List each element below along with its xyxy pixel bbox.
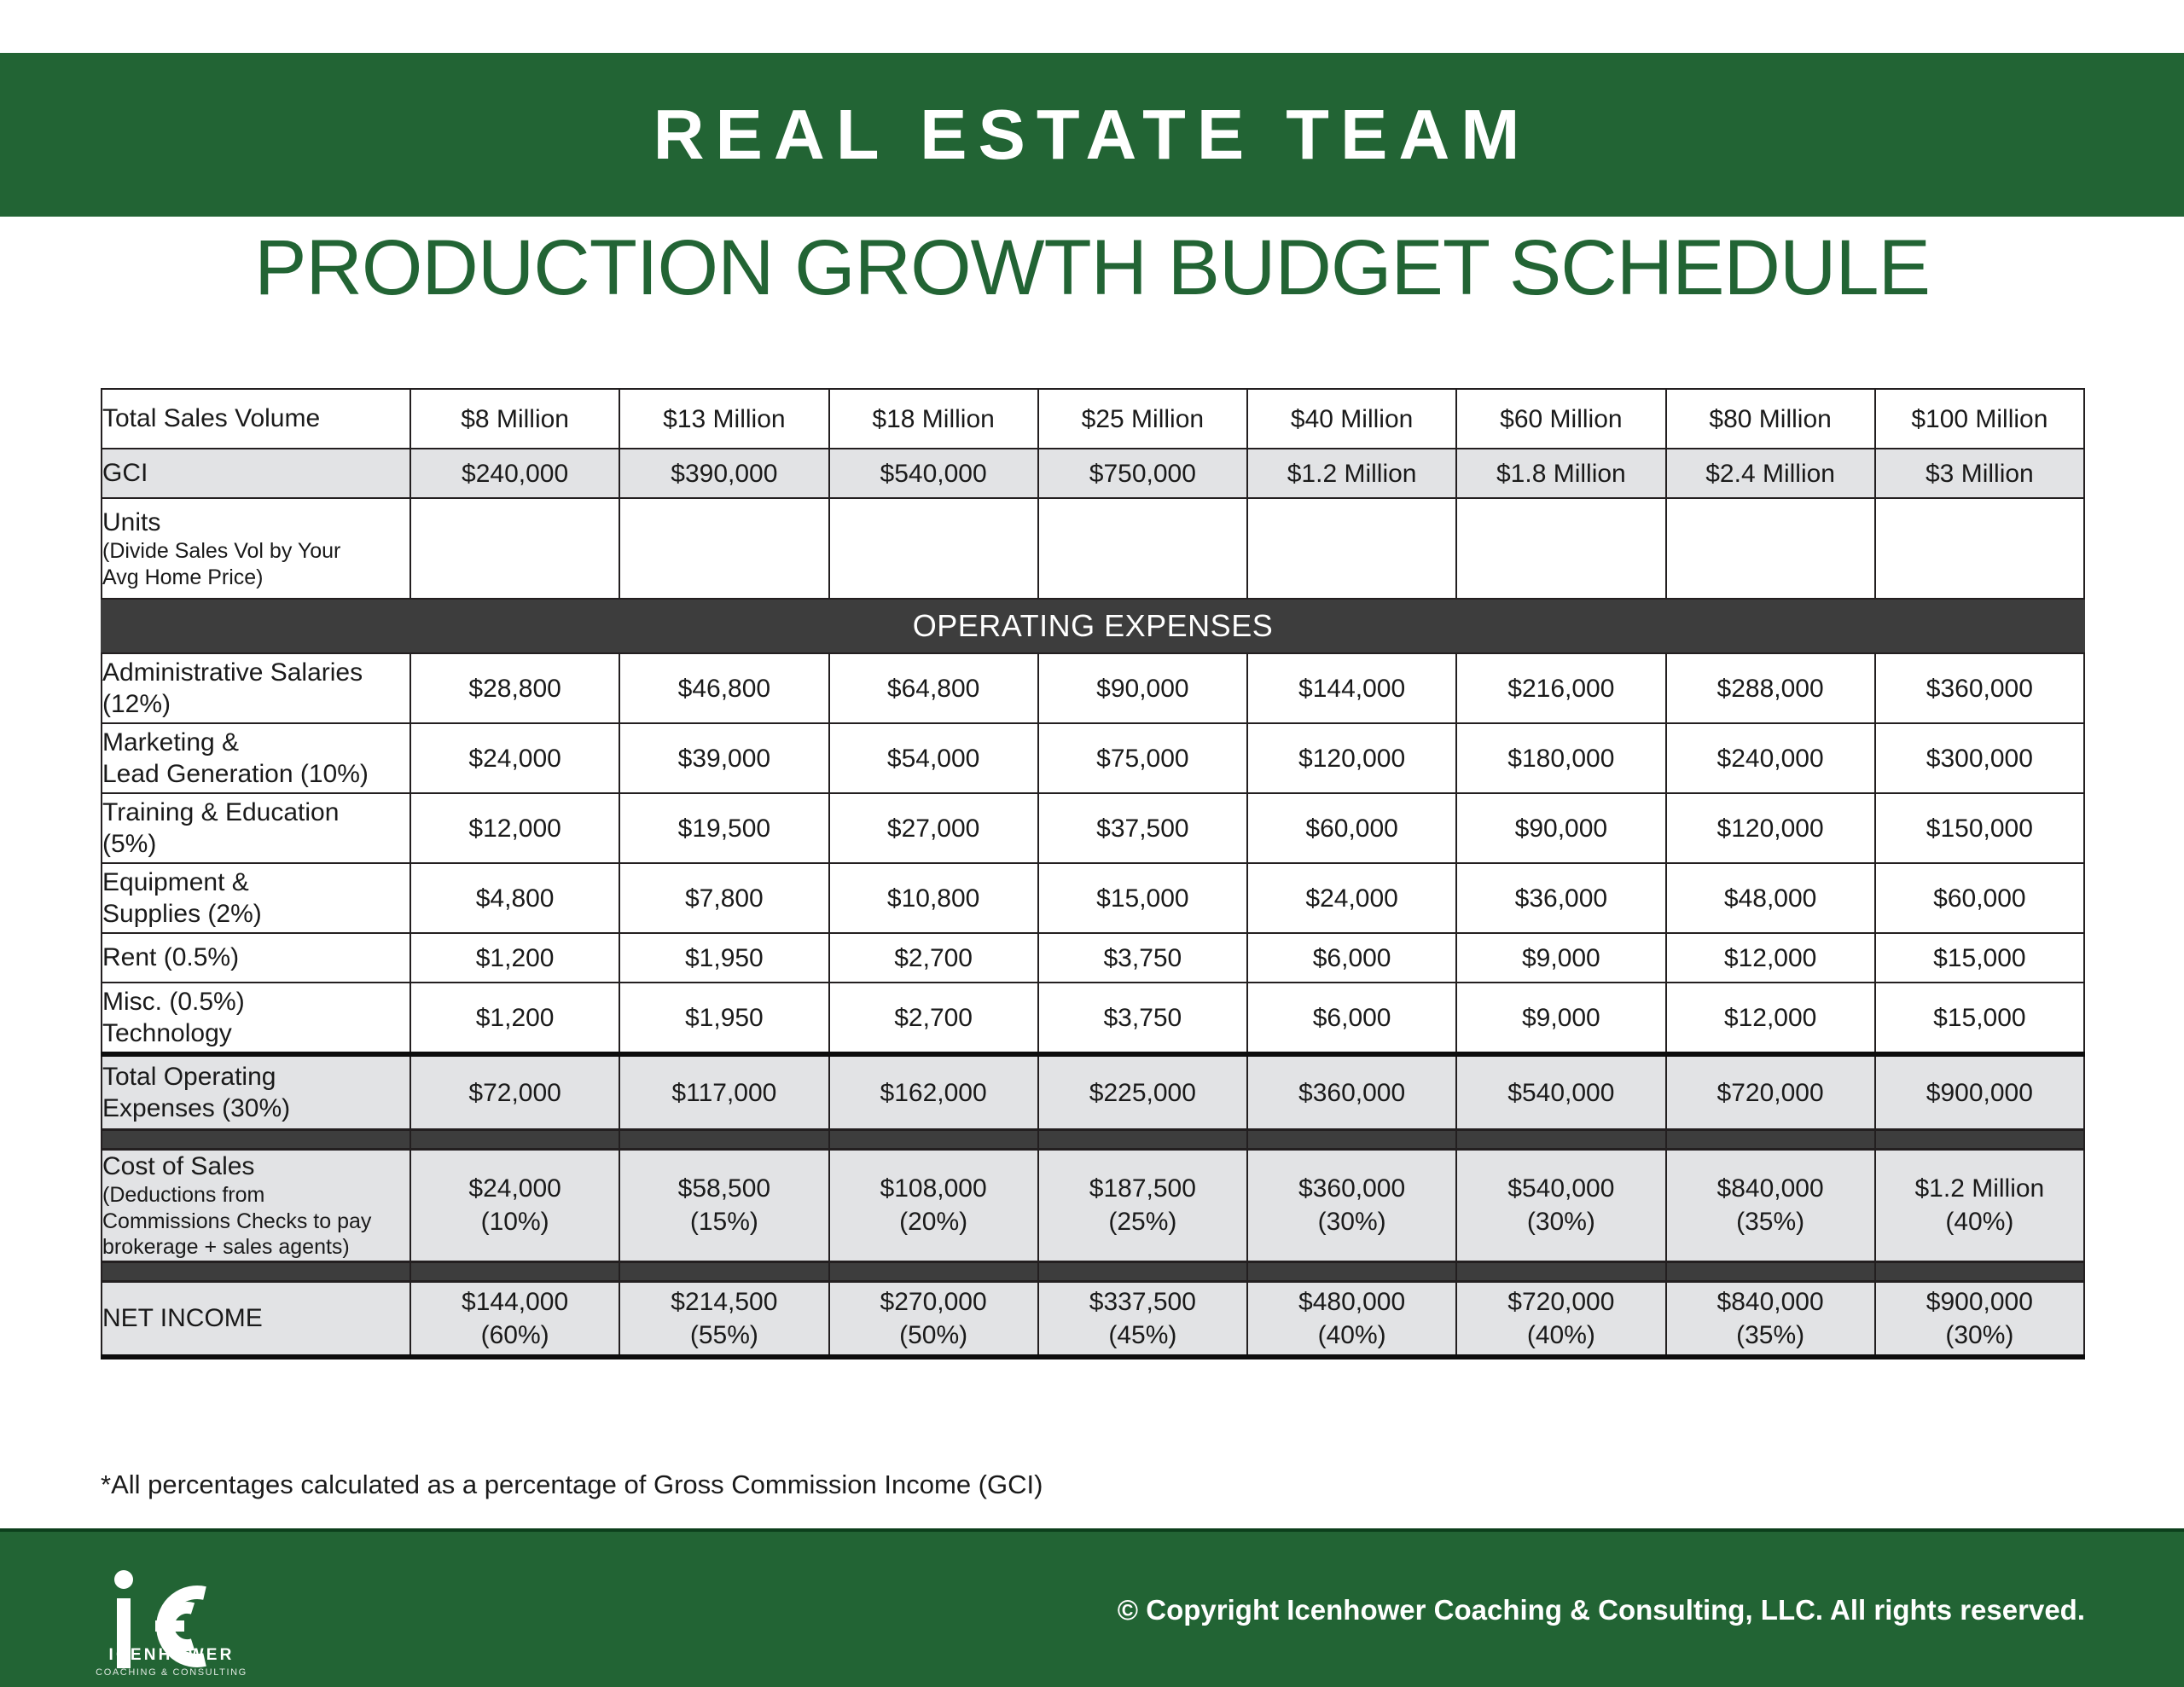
row-label-rent: Rent (0.5%) bbox=[102, 933, 410, 983]
cell-cost-of-sales-5: $360,000 (30%) bbox=[1247, 1150, 1456, 1262]
cell-sales-volume-2: $13 Million bbox=[619, 389, 828, 449]
net-percent-8: (30%) bbox=[1876, 1319, 2083, 1352]
budget-table: Total Sales Volume $8 Million $13 Millio… bbox=[101, 388, 2085, 1359]
table-row-marketing-lead-generation: Marketing & Lead Generation (10%) $24,00… bbox=[102, 723, 2084, 793]
cell-rent-4: $3,750 bbox=[1038, 933, 1247, 983]
cell-marketing-5: $120,000 bbox=[1247, 723, 1456, 793]
separator-cell bbox=[102, 1261, 410, 1281]
row-label-gci: GCI bbox=[102, 449, 410, 498]
separator-cell bbox=[1875, 1261, 2084, 1281]
net-amount-4: $337,500 bbox=[1089, 1288, 1196, 1316]
cell-gci-5: $1.2 Million bbox=[1247, 449, 1456, 498]
table-separator-1 bbox=[102, 1130, 2084, 1150]
cell-admin-8: $360,000 bbox=[1875, 653, 2084, 723]
row-label-equipment: Equipment & Supplies (2%) bbox=[102, 863, 410, 933]
cell-net-income-4: $337,500 (45%) bbox=[1038, 1281, 1247, 1357]
logo-wordmark: ICENHOWER bbox=[99, 1646, 244, 1665]
cell-cost-of-sales-3: $108,000 (20%) bbox=[829, 1150, 1038, 1262]
separator-cell bbox=[829, 1261, 1038, 1281]
cell-rent-8: $15,000 bbox=[1875, 933, 2084, 983]
cell-marketing-2: $39,000 bbox=[619, 723, 828, 793]
cos-percent-5: (30%) bbox=[1248, 1205, 1455, 1238]
row-label-cos-main: Cost of Sales bbox=[102, 1152, 254, 1180]
net-amount-8: $900,000 bbox=[1926, 1288, 2033, 1316]
cell-net-income-6: $720,000 (40%) bbox=[1456, 1281, 1665, 1357]
cell-training-2: $19,500 bbox=[619, 793, 828, 863]
cell-equipment-3: $10,800 bbox=[829, 863, 1038, 933]
cell-gci-3: $540,000 bbox=[829, 449, 1038, 498]
separator-cell bbox=[1456, 1130, 1665, 1150]
row-label-cos-sub3: brokerage + sales agents) bbox=[102, 1234, 409, 1261]
cell-net-income-8: $900,000 (30%) bbox=[1875, 1281, 2084, 1357]
row-label-administrative-salaries: Administrative Salaries (12%) bbox=[102, 653, 410, 723]
row-label-sales-volume: Total Sales Volume bbox=[102, 389, 410, 449]
cell-equipment-1: $4,800 bbox=[410, 863, 619, 933]
cell-total-opex-2: $117,000 bbox=[619, 1054, 828, 1130]
cell-misc-7: $12,000 bbox=[1666, 983, 1875, 1054]
section-banner-label: OPERATING EXPENSES bbox=[102, 599, 2084, 653]
separator-cell bbox=[1875, 1130, 2084, 1150]
table-row-units: Units (Divide Sales Vol by Your Avg Home… bbox=[102, 498, 2084, 599]
footnote-percentages: *All percentages calculated as a percent… bbox=[101, 1470, 1043, 1500]
title-banner: REAL ESTATE TEAM bbox=[0, 53, 2184, 217]
cell-net-income-7: $840,000 (35%) bbox=[1666, 1281, 1875, 1357]
cell-marketing-3: $54,000 bbox=[829, 723, 1038, 793]
cell-total-opex-8: $900,000 bbox=[1875, 1054, 2084, 1130]
cell-equipment-8: $60,000 bbox=[1875, 863, 2084, 933]
cell-sales-volume-5: $40 Million bbox=[1247, 389, 1456, 449]
table-row-net-income: NET INCOME $144,000 (60%) $214,500 (55%)… bbox=[102, 1281, 2084, 1357]
cell-equipment-7: $48,000 bbox=[1666, 863, 1875, 933]
net-amount-6: $720,000 bbox=[1507, 1288, 1614, 1316]
cell-sales-volume-8: $100 Million bbox=[1875, 389, 2084, 449]
cell-admin-7: $288,000 bbox=[1666, 653, 1875, 723]
cos-percent-2: (15%) bbox=[620, 1205, 828, 1238]
net-percent-2: (55%) bbox=[620, 1319, 828, 1352]
cell-training-3: $27,000 bbox=[829, 793, 1038, 863]
cell-misc-3: $2,700 bbox=[829, 983, 1038, 1054]
copyright-notice: © Copyright Icenhower Coaching & Consult… bbox=[1118, 1594, 2085, 1626]
row-label-cos-sub2: Commissions Checks to pay bbox=[102, 1209, 409, 1235]
cell-sales-volume-6: $60 Million bbox=[1456, 389, 1665, 449]
cos-percent-1: (10%) bbox=[411, 1205, 619, 1238]
cell-units-1[interactable] bbox=[410, 498, 619, 599]
cell-net-income-1: $144,000 (60%) bbox=[410, 1281, 619, 1357]
cell-gci-1: $240,000 bbox=[410, 449, 619, 498]
separator-cell bbox=[1456, 1261, 1665, 1281]
cell-total-opex-5: $360,000 bbox=[1247, 1054, 1456, 1130]
page-title: REAL ESTATE TEAM bbox=[653, 94, 1531, 176]
row-label-units-sub2: Avg Home Price) bbox=[102, 565, 409, 591]
cell-rent-5: $6,000 bbox=[1247, 933, 1456, 983]
cos-percent-8: (40%) bbox=[1876, 1205, 2083, 1238]
net-percent-4: (45%) bbox=[1039, 1319, 1246, 1352]
cell-training-7: $120,000 bbox=[1666, 793, 1875, 863]
net-amount-1: $144,000 bbox=[462, 1288, 568, 1316]
separator-cell bbox=[1038, 1130, 1247, 1150]
cell-units-6[interactable] bbox=[1456, 498, 1665, 599]
cell-gci-6: $1.8 Million bbox=[1456, 449, 1665, 498]
row-label-total-opex-sub: Expenses (30%) bbox=[102, 1094, 290, 1122]
row-label-total-opex: Total Operating Expenses (30%) bbox=[102, 1054, 410, 1130]
cell-rent-1: $1,200 bbox=[410, 933, 619, 983]
cell-cost-of-sales-7: $840,000 (35%) bbox=[1666, 1150, 1875, 1262]
row-label-marketing: Marketing & Lead Generation (10%) bbox=[102, 723, 410, 793]
table-row-administrative-salaries: Administrative Salaries (12%) $28,800 $4… bbox=[102, 653, 2084, 723]
cell-misc-1: $1,200 bbox=[410, 983, 619, 1054]
cell-total-opex-1: $72,000 bbox=[410, 1054, 619, 1130]
cell-sales-volume-1: $8 Million bbox=[410, 389, 619, 449]
cell-misc-8: $15,000 bbox=[1875, 983, 2084, 1054]
cos-amount-7: $840,000 bbox=[1717, 1174, 1824, 1203]
logo-tagline: COACHING & CONSULTING bbox=[94, 1667, 249, 1678]
separator-cell bbox=[102, 1130, 410, 1150]
cell-net-income-3: $270,000 (50%) bbox=[829, 1281, 1038, 1357]
cell-net-income-2: $214,500 (55%) bbox=[619, 1281, 828, 1357]
cos-percent-7: (35%) bbox=[1667, 1205, 1874, 1238]
table-row-rent: Rent (0.5%) $1,200 $1,950 $2,700 $3,750 … bbox=[102, 933, 2084, 983]
cell-rent-3: $2,700 bbox=[829, 933, 1038, 983]
separator-cell bbox=[619, 1130, 828, 1150]
cell-units-5[interactable] bbox=[1247, 498, 1456, 599]
cell-training-1: $12,000 bbox=[410, 793, 619, 863]
cos-amount-1: $24,000 bbox=[468, 1174, 561, 1203]
row-label-equipment-main: Equipment & bbox=[102, 868, 249, 896]
separator-cell bbox=[1038, 1261, 1247, 1281]
cell-cost-of-sales-1: $24,000 (10%) bbox=[410, 1150, 619, 1262]
cell-total-opex-3: $162,000 bbox=[829, 1054, 1038, 1130]
cell-cost-of-sales-2: $58,500 (15%) bbox=[619, 1150, 828, 1262]
cell-rent-7: $12,000 bbox=[1666, 933, 1875, 983]
row-label-cost-of-sales: Cost of Sales (Deductions from Commissio… bbox=[102, 1150, 410, 1262]
cell-sales-volume-4: $25 Million bbox=[1038, 389, 1247, 449]
row-label-net-income: NET INCOME bbox=[102, 1281, 410, 1357]
table-row-total-operating-expenses: Total Operating Expenses (30%) $72,000 $… bbox=[102, 1054, 2084, 1130]
row-label-units: Units (Divide Sales Vol by Your Avg Home… bbox=[102, 498, 410, 599]
table-separator-2 bbox=[102, 1261, 2084, 1281]
cos-amount-4: $187,500 bbox=[1089, 1174, 1196, 1203]
separator-cell bbox=[1666, 1130, 1875, 1150]
row-label-training-main: Training & Education bbox=[102, 798, 339, 826]
cell-admin-4: $90,000 bbox=[1038, 653, 1247, 723]
row-label-misc: Misc. (0.5%) Technology bbox=[102, 983, 410, 1054]
row-label-units-sub1: (Divide Sales Vol by Your bbox=[102, 538, 409, 565]
cell-rent-2: $1,950 bbox=[619, 933, 828, 983]
cell-marketing-4: $75,000 bbox=[1038, 723, 1247, 793]
table-row-equipment-supplies: Equipment & Supplies (2%) $4,800 $7,800 … bbox=[102, 863, 2084, 933]
net-percent-1: (60%) bbox=[411, 1319, 619, 1352]
cos-percent-6: (30%) bbox=[1457, 1205, 1664, 1238]
row-label-training-sub: (5%) bbox=[102, 830, 156, 858]
cell-marketing-6: $180,000 bbox=[1456, 723, 1665, 793]
separator-cell bbox=[410, 1261, 619, 1281]
cell-sales-volume-3: $18 Million bbox=[829, 389, 1038, 449]
row-label-misc-main: Misc. (0.5%) bbox=[102, 988, 245, 1016]
cell-units-8[interactable] bbox=[1875, 498, 2084, 599]
cell-training-5: $60,000 bbox=[1247, 793, 1456, 863]
cell-training-6: $90,000 bbox=[1456, 793, 1665, 863]
row-label-admin-main: Administrative Salaries bbox=[102, 658, 363, 687]
cell-misc-2: $1,950 bbox=[619, 983, 828, 1054]
cell-net-income-5: $480,000 (40%) bbox=[1247, 1281, 1456, 1357]
net-percent-6: (40%) bbox=[1457, 1319, 1664, 1352]
cell-training-4: $37,500 bbox=[1038, 793, 1247, 863]
cell-training-8: $150,000 bbox=[1875, 793, 2084, 863]
cell-total-opex-6: $540,000 bbox=[1456, 1054, 1665, 1130]
cell-misc-4: $3,750 bbox=[1038, 983, 1247, 1054]
separator-cell bbox=[1666, 1261, 1875, 1281]
cos-amount-3: $108,000 bbox=[880, 1174, 987, 1203]
cell-units-7[interactable] bbox=[1666, 498, 1875, 599]
cell-equipment-4: $15,000 bbox=[1038, 863, 1247, 933]
cell-misc-5: $6,000 bbox=[1247, 983, 1456, 1054]
cell-gci-2: $390,000 bbox=[619, 449, 828, 498]
row-label-misc-sub: Technology bbox=[102, 1019, 232, 1047]
cell-rent-6: $9,000 bbox=[1456, 933, 1665, 983]
cell-equipment-5: $24,000 bbox=[1247, 863, 1456, 933]
cell-total-opex-4: $225,000 bbox=[1038, 1054, 1247, 1130]
row-label-marketing-main: Marketing & bbox=[102, 728, 239, 757]
cell-admin-2: $46,800 bbox=[619, 653, 828, 723]
net-percent-3: (50%) bbox=[830, 1319, 1037, 1352]
cell-gci-4: $750,000 bbox=[1038, 449, 1247, 498]
cell-admin-1: $28,800 bbox=[410, 653, 619, 723]
cell-units-3[interactable] bbox=[829, 498, 1038, 599]
cell-cost-of-sales-4: $187,500 (25%) bbox=[1038, 1150, 1247, 1262]
cos-percent-4: (25%) bbox=[1039, 1205, 1246, 1238]
cell-equipment-6: $36,000 bbox=[1456, 863, 1665, 933]
row-label-admin-sub: (12%) bbox=[102, 690, 171, 718]
table-row-misc-technology: Misc. (0.5%) Technology $1,200 $1,950 $2… bbox=[102, 983, 2084, 1054]
table-row-cost-of-sales: Cost of Sales (Deductions from Commissio… bbox=[102, 1150, 2084, 1262]
net-percent-5: (40%) bbox=[1248, 1319, 1455, 1352]
cos-percent-3: (20%) bbox=[830, 1205, 1037, 1238]
cell-cost-of-sales-6: $540,000 (30%) bbox=[1456, 1150, 1665, 1262]
row-label-marketing-sub: Lead Generation (10%) bbox=[102, 760, 369, 788]
cell-admin-6: $216,000 bbox=[1456, 653, 1665, 723]
cell-admin-3: $64,800 bbox=[829, 653, 1038, 723]
table-row-sales-volume: Total Sales Volume $8 Million $13 Millio… bbox=[102, 389, 2084, 449]
table-row-training-education: Training & Education (5%) $12,000 $19,50… bbox=[102, 793, 2084, 863]
row-label-total-opex-main: Total Operating bbox=[102, 1063, 276, 1091]
net-amount-5: $480,000 bbox=[1298, 1288, 1405, 1316]
row-label-training: Training & Education (5%) bbox=[102, 793, 410, 863]
cell-marketing-8: $300,000 bbox=[1875, 723, 2084, 793]
cell-gci-8: $3 Million bbox=[1875, 449, 2084, 498]
separator-cell bbox=[829, 1130, 1038, 1150]
table-row-gci: GCI $240,000 $390,000 $540,000 $750,000 … bbox=[102, 449, 2084, 498]
cell-marketing-1: $24,000 bbox=[410, 723, 619, 793]
net-amount-2: $214,500 bbox=[671, 1288, 777, 1316]
separator-cell bbox=[1247, 1130, 1456, 1150]
cell-units-4[interactable] bbox=[1038, 498, 1247, 599]
cell-total-opex-7: $720,000 bbox=[1666, 1054, 1875, 1130]
cell-equipment-2: $7,800 bbox=[619, 863, 828, 933]
cell-misc-6: $9,000 bbox=[1456, 983, 1665, 1054]
cos-amount-8: $1.2 Million bbox=[1915, 1174, 2045, 1203]
table-section-banner-operating-expenses: OPERATING EXPENSES bbox=[102, 599, 2084, 653]
cell-cost-of-sales-8: $1.2 Million (40%) bbox=[1875, 1150, 2084, 1262]
cell-gci-7: $2.4 Million bbox=[1666, 449, 1875, 498]
cos-amount-5: $360,000 bbox=[1298, 1174, 1405, 1203]
net-amount-3: $270,000 bbox=[880, 1288, 987, 1316]
cell-sales-volume-7: $80 Million bbox=[1666, 389, 1875, 449]
row-label-units-main: Units bbox=[102, 508, 160, 536]
net-percent-7: (35%) bbox=[1667, 1319, 1874, 1352]
cell-marketing-7: $240,000 bbox=[1666, 723, 1875, 793]
separator-cell bbox=[619, 1261, 828, 1281]
cos-amount-6: $540,000 bbox=[1507, 1174, 1614, 1203]
cos-amount-2: $58,500 bbox=[678, 1174, 770, 1203]
cell-units-2[interactable] bbox=[619, 498, 828, 599]
net-amount-7: $840,000 bbox=[1717, 1288, 1824, 1316]
page-subtitle: PRODUCTION GROWTH BUDGET SCHEDULE bbox=[0, 223, 2184, 313]
separator-cell bbox=[1247, 1261, 1456, 1281]
budget-table-container: Total Sales Volume $8 Million $13 Millio… bbox=[101, 388, 2083, 1359]
cell-admin-5: $144,000 bbox=[1247, 653, 1456, 723]
separator-cell bbox=[410, 1130, 619, 1150]
row-label-equipment-sub: Supplies (2%) bbox=[102, 900, 262, 928]
row-label-cos-sub1: (Deductions from bbox=[102, 1182, 409, 1209]
